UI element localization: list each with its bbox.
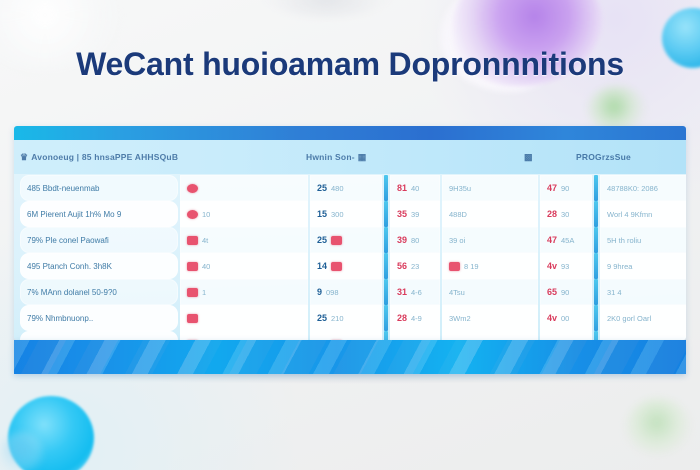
cell-count-sub: 93 <box>561 262 569 271</box>
column-divider <box>384 227 388 253</box>
cell-progress: Worl 4 9Kfmn <box>600 201 686 227</box>
column-header-progress[interactable]: PROGrzsSue <box>576 152 686 162</box>
cell-count-sub: 45A <box>561 236 574 245</box>
cell-count: 4v00 <box>540 305 592 331</box>
column-divider <box>384 253 388 279</box>
column-divider <box>594 279 598 305</box>
table-row[interactable]: 79% Ple conel Paowafi 4t 25 3980 39 oi 4… <box>20 227 680 253</box>
cell-rank-value: 81 <box>397 183 407 193</box>
cell-name-text: 7% MAnn dolanel 50-9?0 <box>27 288 117 297</box>
cell-score: 25480 <box>310 175 382 201</box>
cell-rank: 8140 <box>390 175 440 201</box>
column-divider <box>594 253 598 279</box>
page-title: WeCant huoioamam Dopronnnitions <box>0 46 700 83</box>
table-row[interactable]: 7% MAnn dolanel 50-9?0 1 9098 314-6 4Tsu… <box>20 279 680 305</box>
table-row[interactable]: 79% Nhmbnuonp.. 25210 284-9 3Wm2 4v00 2K… <box>20 305 680 331</box>
cell-progress: 31 6 nra <box>600 331 686 340</box>
cell-status <box>180 305 308 331</box>
cell-name: 485 Bbdt-neuenmab <box>20 175 178 201</box>
cell-detail: 0 tRat <box>442 331 538 340</box>
cell-score-sub: 480 <box>331 184 344 193</box>
cell-detail: 8 19 <box>442 253 538 279</box>
cell-status-text: 10 <box>202 210 210 219</box>
status-chip <box>187 184 198 193</box>
cell-score-value: 25 <box>317 235 327 245</box>
cell-rank: 6581 <box>390 331 440 340</box>
cell-score-value: 14 <box>317 261 327 271</box>
cell-score: 15300 <box>310 201 382 227</box>
cell-score: 15 <box>310 331 382 340</box>
cell-status: 40 <box>180 253 308 279</box>
table-row[interactable]: 796 Pigo Goldnaer Mb 15 6581 0 tRat 465 … <box>20 331 680 340</box>
column-divider <box>594 331 598 340</box>
cell-detail: 488D <box>442 201 538 227</box>
cell-progress: 2K0 gorl Oarl <box>600 305 686 331</box>
cell-score: 25210 <box>310 305 382 331</box>
cell-name: 495 Ptanch Conh. 3h8K <box>20 253 178 279</box>
cell-score: 14 <box>310 253 382 279</box>
cell-count: 4745A <box>540 227 592 253</box>
table-row[interactable]: 485 Bbdt-neuenmab 25480 8140 9H35u 4790 … <box>20 175 680 201</box>
cell-count-sub: 90 <box>561 184 569 193</box>
column-divider <box>594 175 598 201</box>
cell-count: 4790 <box>540 175 592 201</box>
cell-status <box>180 331 308 340</box>
bars-icon: ▩ <box>524 152 533 163</box>
cell-count-sub: 00 <box>561 314 569 323</box>
cell-score-value: 9 <box>317 287 322 297</box>
decorative-blob-blue-bottom-left <box>0 432 44 470</box>
cell-progress-text: 31 4 <box>607 288 622 297</box>
table-body: 485 Bbdt-neuenmab 25480 8140 9H35u 4790 … <box>14 174 686 340</box>
cell-rank-sub: 40 <box>411 184 419 193</box>
column-header-name[interactable]: ♛ Avonoeug | 85 hnsaPPE AHHSQuBldd <box>20 152 178 163</box>
cell-status-text: 1 <box>202 288 206 297</box>
cell-rank-value: 28 <box>397 313 407 323</box>
column-header-name-label: Avonoeug | 85 hnsaPPE AHHSQuBldd <box>31 152 178 162</box>
cell-count: 6590 <box>540 279 592 305</box>
cell-name: 796 Pigo Goldnaer Mb <box>20 331 178 340</box>
decorative-blob-grey-top-center <box>262 0 392 18</box>
cell-progress-text: 2K0 gorl Oarl <box>607 314 651 323</box>
score-chip <box>331 262 342 271</box>
cell-score: 9098 <box>310 279 382 305</box>
cell-rank: 3980 <box>390 227 440 253</box>
column-divider <box>384 305 388 331</box>
cell-progress-text: Worl 4 9Kfmn <box>607 210 652 219</box>
table-top-accent-band <box>14 126 686 140</box>
table-header-row: ♛ Avonoeug | 85 hnsaPPE AHHSQuBldd Hwnin… <box>14 140 686 174</box>
cell-progress: 48788K0: 2086 <box>600 175 686 201</box>
cell-progress: 5H th roliu <box>600 227 686 253</box>
cell-name-text: 79% Ple conel Paowafi <box>27 236 109 245</box>
status-chip <box>187 314 198 323</box>
cell-detail-text: 8 19 <box>464 262 479 271</box>
decorative-blob-green-bottom-right <box>626 398 690 454</box>
cell-detail-text: 3Wm2 <box>449 314 471 323</box>
cell-score-sub: 098 <box>326 288 339 297</box>
cell-rank-value: 56 <box>397 261 407 271</box>
cell-count: 465 <box>540 331 592 340</box>
column-divider <box>384 331 388 340</box>
cell-progress-text: 48788K0: 2086 <box>607 184 658 193</box>
cell-count-value: 4v <box>547 313 557 323</box>
cell-status-text: 40 <box>202 262 210 271</box>
cell-count-sub: 90 <box>561 288 569 297</box>
cell-score-sub: 210 <box>331 314 344 323</box>
cell-detail-text: 39 oi <box>449 236 465 245</box>
cell-count-value: 4v <box>547 261 557 271</box>
page-background: WeCant huoioamam Dopronnnitions ♛ Avonoe… <box>0 0 700 470</box>
column-divider <box>384 279 388 305</box>
cell-name: 79% Nhmbnuonp.. <box>20 305 178 331</box>
column-header-count[interactable]: ▩ <box>524 152 576 163</box>
footer-accent-band <box>14 340 686 374</box>
cell-rank-value: 31 <box>397 287 407 297</box>
cell-rank-sub: 80 <box>411 236 419 245</box>
cell-detail: 3Wm2 <box>442 305 538 331</box>
cell-score: 25 <box>310 227 382 253</box>
cell-count: 2830 <box>540 201 592 227</box>
score-chip <box>331 236 342 245</box>
cell-name: 7% MAnn dolanel 50-9?0 <box>20 279 178 305</box>
cell-count-value: 65 <box>547 287 557 297</box>
cell-rank-sub: 23 <box>411 262 419 271</box>
cell-score-sub: 300 <box>331 210 344 219</box>
column-header-score[interactable]: Hwnin Son- ▦ <box>306 152 378 163</box>
cell-status-text: 4t <box>202 236 208 245</box>
cell-rank-sub: 4-6 <box>411 288 422 297</box>
table-row[interactable]: 495 Ptanch Conh. 3h8K 40 14 5623 8 19 4v… <box>20 253 680 279</box>
cell-count-value: 28 <box>547 209 557 219</box>
cell-count-value: 47 <box>547 183 557 193</box>
status-chip <box>187 262 198 271</box>
column-divider <box>594 305 598 331</box>
cell-detail: 39 oi <box>442 227 538 253</box>
cell-count: 4v93 <box>540 253 592 279</box>
table-row[interactable]: 6M Pierent Aujit 1h% Mo 9 10 15300 3539 … <box>20 201 680 227</box>
cell-name-text: 6M Pierent Aujit 1h% Mo 9 <box>27 210 121 219</box>
cell-rank: 284-9 <box>390 305 440 331</box>
cell-score-value: 25 <box>317 183 327 193</box>
column-divider <box>384 175 388 201</box>
trophy-icon: ♛ <box>20 152 28 163</box>
cell-detail: 4Tsu <box>442 279 538 305</box>
status-chip <box>187 210 198 219</box>
cell-name-text: 485 Bbdt-neuenmab <box>27 184 100 193</box>
cell-rank-value: 39 <box>397 235 407 245</box>
column-divider <box>594 201 598 227</box>
chart-icon: ▦ <box>358 152 367 163</box>
cell-status: 1 <box>180 279 308 305</box>
decorative-blob-cyan-bottom-left <box>8 396 94 470</box>
cell-progress: 31 4 <box>600 279 686 305</box>
detail-chip <box>449 262 460 271</box>
status-chip <box>187 288 198 297</box>
cell-status: 10 <box>180 201 308 227</box>
cell-count-value: 47 <box>547 235 557 245</box>
cell-detail: 9H35u <box>442 175 538 201</box>
column-header-progress-label: PROGrzsSue <box>576 152 631 162</box>
data-table-panel: ♛ Avonoeug | 85 hnsaPPE AHHSQuBldd Hwnin… <box>14 126 686 340</box>
cell-progress-text: 9 9hrea <box>607 262 632 271</box>
cell-count-sub: 30 <box>561 210 569 219</box>
cell-rank-value: 35 <box>397 209 407 219</box>
cell-name: 79% Ple conel Paowafi <box>20 227 178 253</box>
cell-name-text: 79% Nhmbnuonp.. <box>27 314 93 323</box>
status-chip <box>187 236 198 245</box>
column-divider <box>384 201 388 227</box>
cell-score-value: 25 <box>317 313 327 323</box>
cell-progress: 9 9hrea <box>600 253 686 279</box>
cell-rank-sub: 4-9 <box>411 314 422 323</box>
cell-detail-text: 488D <box>449 210 467 219</box>
cell-rank: 3539 <box>390 201 440 227</box>
cell-detail-text: 4Tsu <box>449 288 465 297</box>
cell-score-value: 15 <box>317 209 327 219</box>
cell-detail-text: 9H35u <box>449 184 471 193</box>
cell-name-text: 495 Ptanch Conh. 3h8K <box>27 262 112 271</box>
cell-rank-sub: 39 <box>411 210 419 219</box>
cell-rank: 5623 <box>390 253 440 279</box>
cell-name: 6M Pierent Aujit 1h% Mo 9 <box>20 201 178 227</box>
cell-status <box>180 175 308 201</box>
column-header-score-label: Hwnin Son- <box>306 152 355 162</box>
column-divider <box>594 227 598 253</box>
cell-progress-text: 5H th roliu <box>607 236 641 245</box>
cell-status: 4t <box>180 227 308 253</box>
cell-rank: 314-6 <box>390 279 440 305</box>
